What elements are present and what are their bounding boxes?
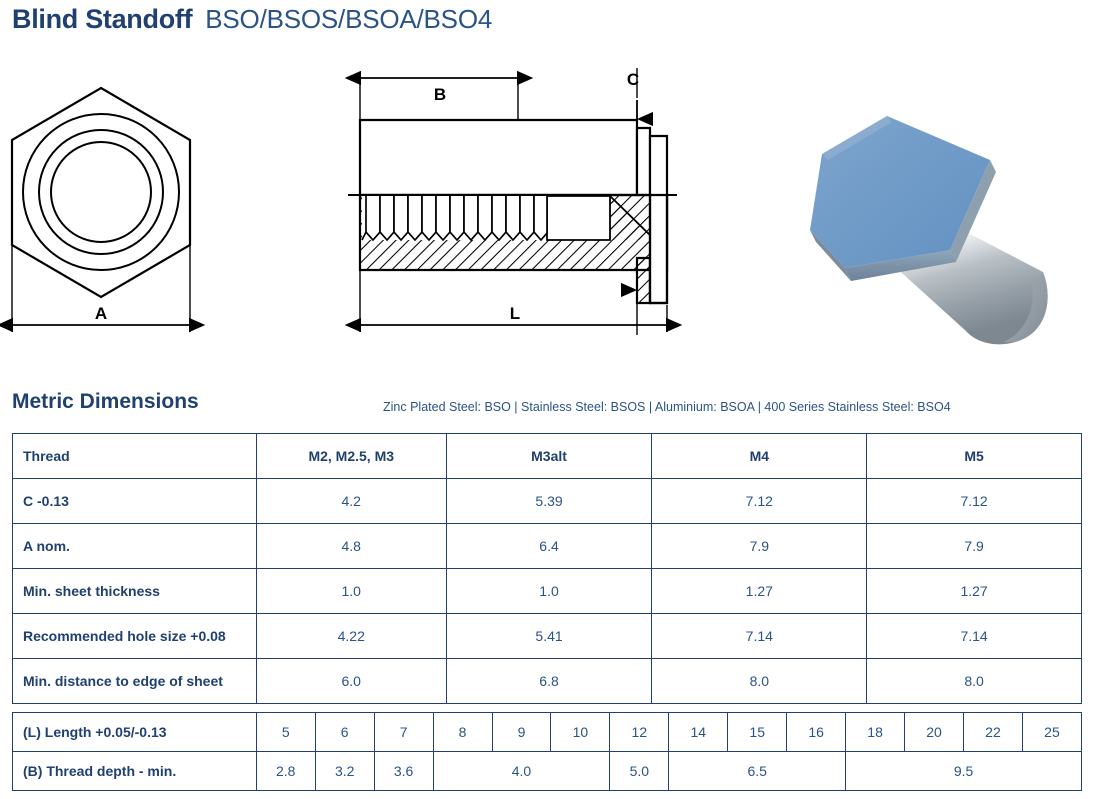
thread-teeth (366, 196, 547, 240)
table-row: Min. sheet thickness1.01.01.271.27 (13, 569, 1082, 614)
length-row: (L) Length +0.05/-0.13567891012141516182… (13, 713, 1082, 752)
row-label: Min. distance to edge of sheet (13, 659, 257, 704)
table-cell: 4.2 (256, 479, 446, 524)
section-heading: Metric Dimensions (12, 390, 199, 414)
cross-section-view: B (348, 68, 680, 335)
neck-lower (637, 258, 650, 303)
length-cell: 15 (728, 713, 787, 752)
dim-label-c: C (627, 70, 639, 89)
table-header-row: ThreadM2, M2.5, M3M3altM4M5 (13, 434, 1082, 479)
row-label: A nom. (13, 524, 257, 569)
column-header: M4 (652, 434, 867, 479)
length-cell: 12 (610, 713, 669, 752)
row-label: Recommended hole size +0.08 (13, 614, 257, 659)
length-cell: 20 (905, 713, 964, 752)
table-cell: 8.0 (867, 659, 1082, 704)
materials-note: Zinc Plated Steel: BSO | Stainless Steel… (383, 400, 951, 414)
product-3d-render (810, 116, 1048, 344)
dim-label-l: L (510, 304, 520, 323)
hexagon-end-view: A (12, 88, 190, 332)
thread-depth-cell: 3.2 (315, 752, 374, 791)
table-row: Min. distance to edge of sheet6.06.88.08… (13, 659, 1082, 704)
product-name: Blind Standoff (12, 4, 192, 35)
column-header: M5 (867, 434, 1082, 479)
thread-depth-cell: 3.6 (374, 752, 433, 791)
length-cell: 18 (846, 713, 905, 752)
drawings-area: A B (0, 50, 1094, 350)
body-upper-outline (360, 120, 637, 195)
table-row: C -0.134.25.397.127.12 (13, 479, 1082, 524)
table-cell: 7.14 (652, 614, 867, 659)
length-cell: 22 (963, 713, 1022, 752)
table-cell: 6.4 (446, 524, 652, 569)
row-label: (B) Thread depth - min. (13, 752, 257, 791)
table-cell: 4.8 (256, 524, 446, 569)
table-cell: 6.0 (256, 659, 446, 704)
middle-circle (39, 130, 163, 254)
table-cell: 5.39 (446, 479, 652, 524)
length-cell: 8 (433, 713, 492, 752)
thread-depth-cell: 6.5 (669, 752, 846, 791)
length-cell: 7 (374, 713, 433, 752)
table-cell: 4.22 (256, 614, 446, 659)
table-cell: 7.9 (652, 524, 867, 569)
table-cell: 7.12 (867, 479, 1082, 524)
length-cell: 10 (551, 713, 610, 752)
table-cell: 1.0 (446, 569, 652, 614)
row-label: C -0.13 (13, 479, 257, 524)
inner-circle (51, 142, 151, 242)
table-cell: 8.0 (652, 659, 867, 704)
length-cell: 25 (1022, 713, 1081, 752)
thread-depth-cell: 5.0 (610, 752, 669, 791)
column-header: Thread (13, 434, 257, 479)
table-cell: 7.12 (652, 479, 867, 524)
table-cell: 7.14 (867, 614, 1082, 659)
length-cell: 16 (787, 713, 846, 752)
bore-end-pocket (547, 196, 610, 240)
length-cell: 6 (315, 713, 374, 752)
page-title: Blind Standoff BSO/BSOS/BSOA/BSO4 (12, 4, 492, 35)
column-header: M2, M2.5, M3 (256, 434, 446, 479)
technical-drawings: A B (0, 50, 1094, 350)
length-cell: 14 (669, 713, 728, 752)
length-cell: 9 (492, 713, 551, 752)
column-header: M3alt (446, 434, 652, 479)
table-row: Recommended hole size +0.084.225.417.147… (13, 614, 1082, 659)
thread-depth-cell: 9.5 (846, 752, 1082, 791)
neck-upper (637, 128, 650, 195)
table-cell: 1.27 (867, 569, 1082, 614)
length-cell: 5 (256, 713, 315, 752)
row-label: (L) Length +0.05/-0.13 (13, 713, 257, 752)
table-cell: 5.41 (446, 614, 652, 659)
length-thread-depth-table: (L) Length +0.05/-0.13567891012141516182… (12, 712, 1082, 791)
flange-profile (650, 136, 667, 303)
product-codes: BSO/BSOS/BSOA/BSO4 (205, 4, 492, 35)
metric-dimensions-table: ThreadM2, M2.5, M3M3altM4M5C -0.134.25.3… (12, 433, 1082, 704)
table-row: A nom.4.86.47.97.9 (13, 524, 1082, 569)
table-cell: 7.9 (867, 524, 1082, 569)
table-cell: 1.27 (652, 569, 867, 614)
thread-depth-row: (B) Thread depth - min.2.83.23.64.05.06.… (13, 752, 1082, 791)
table-cell: 1.0 (256, 569, 446, 614)
outer-circle (23, 114, 179, 270)
row-label: Min. sheet thickness (13, 569, 257, 614)
table-cell: 6.8 (446, 659, 652, 704)
thread-depth-cell: 2.8 (256, 752, 315, 791)
dim-label-a: A (95, 304, 107, 323)
thread-depth-cell: 4.0 (433, 752, 610, 791)
dim-label-b: B (434, 85, 446, 104)
